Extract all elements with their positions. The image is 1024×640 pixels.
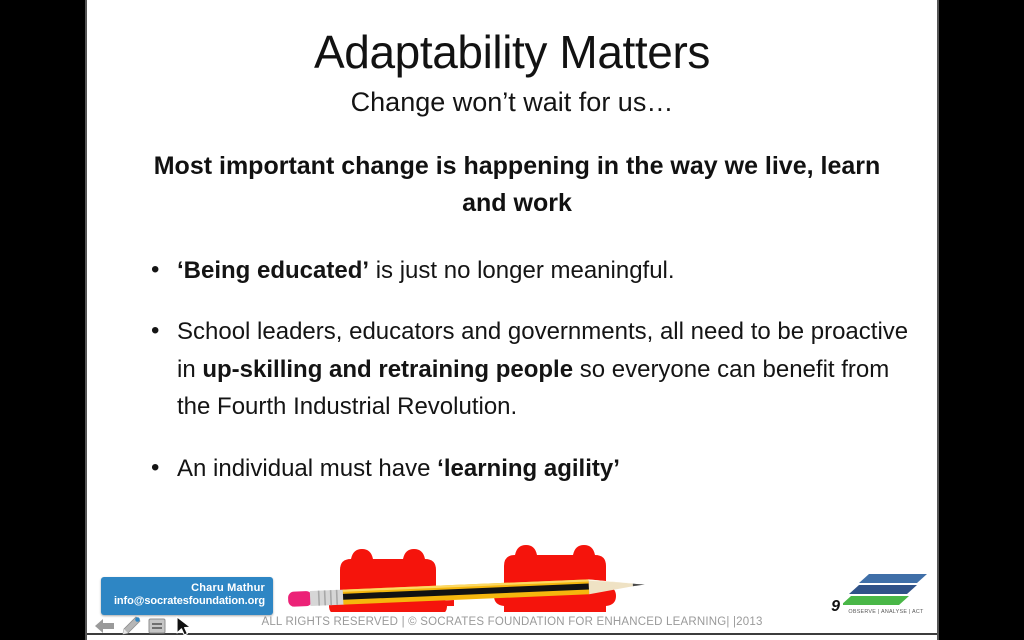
page-title: Adaptability Matters [87,28,937,77]
bullet-marker: • [151,251,159,288]
pointer-cursor-button[interactable] [171,614,195,638]
slide-menu-button[interactable] [145,614,169,638]
list-item: • ‘Being educated’ is just no longer mea… [145,252,915,289]
presentation-viewport: Adaptability Matters Change won’t wait f… [0,0,1024,640]
bullet-marker: • [151,312,159,349]
left-arrow-icon [94,617,116,635]
presenter-name: Charu Mathur [109,582,265,596]
emphasis-text: ‘Being educated’ [177,257,369,284]
slide-canvas: Adaptability Matters Change won’t wait f… [85,0,939,640]
footer-copyright: ALL RIGHTS RESERVED | © SOCRATES FOUNDAT… [87,616,937,628]
pencil-puzzle-illustration [282,540,672,612]
previous-slide-button[interactable] [93,614,117,638]
emphasis-text: ‘learning agility’ [437,455,620,482]
menu-box-icon [146,616,168,636]
bullet-marker: • [151,449,159,486]
bullet-list: • ‘Being educated’ is just no longer mea… [145,252,915,511]
footer-divider [87,633,937,635]
cursor-arrow-icon [172,615,194,637]
pen-icon [120,615,142,637]
plain-text: An individual must have [177,455,437,482]
list-item-text: ‘Being educated’ is just no longer meani… [177,257,675,284]
organization-logo: OBSERVE | ANALYSE | ACT [843,572,929,622]
logo-bars-icon [843,572,929,608]
page-subtitle: Change won’t wait for us… [87,88,937,118]
slide-number: 9 [831,598,840,616]
plain-text: is just no longer meaningful. [369,257,675,284]
list-item: • School leaders, educators and governme… [145,313,915,425]
lead-statement: Most important change is happening in th… [147,148,887,222]
pen-tool-button[interactable] [119,614,143,638]
emphasis-text: up-skilling and retraining people [202,356,573,383]
presentation-toolbar[interactable] [93,612,195,638]
list-item-text: An individual must have ‘learning agilit… [177,455,620,482]
list-item-text: School leaders, educators and government… [177,318,908,420]
presenter-badge: Charu Mathur info@socratesfoundation.org [101,577,273,616]
logo-tagline: OBSERVE | ANALYSE | ACT [843,609,929,615]
list-item: • An individual must have ‘learning agil… [145,450,915,487]
presenter-email[interactable]: info@socratesfoundation.org [109,595,265,609]
